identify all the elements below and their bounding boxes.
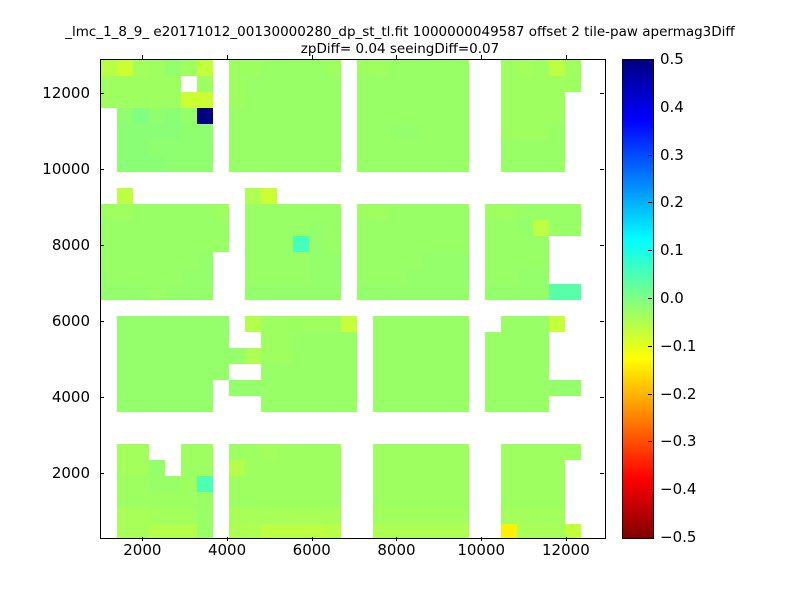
colorbar-tick-label: −0.1 (660, 337, 696, 355)
y-tick-label: 10000 (0, 160, 90, 178)
colorbar-tick-label: 0.1 (660, 241, 684, 259)
colorbar-gradient (623, 60, 653, 538)
y-tick (600, 245, 604, 246)
colorbar-tick-label: −0.3 (660, 432, 696, 450)
y-tick (600, 397, 604, 398)
x-tick-label: 6000 (293, 541, 331, 559)
colorbar-tick (648, 394, 652, 395)
y-tick (100, 245, 104, 246)
colorbar-tick (648, 298, 652, 299)
colorbar (622, 59, 654, 539)
x-tick (142, 55, 143, 59)
colorbar-tick (648, 346, 652, 347)
y-tick (600, 93, 604, 94)
y-tick-label: 8000 (0, 236, 90, 254)
plot-area (100, 59, 606, 539)
colorbar-tick-label: 0.3 (660, 146, 684, 164)
x-tick-label: 8000 (377, 541, 415, 559)
y-tick (600, 473, 604, 474)
y-tick-label: 4000 (0, 388, 90, 406)
figure-title: _lmc_1_8_9_ e20171012_00130000280_dp_st_… (0, 24, 800, 40)
colorbar-tick-label: 0.4 (660, 98, 684, 116)
x-tick (227, 55, 228, 59)
y-tick (100, 169, 104, 170)
x-tick-label: 12000 (542, 541, 590, 559)
x-tick-label: 2000 (123, 541, 161, 559)
colorbar-tick-label: 0.0 (660, 289, 684, 307)
x-tick-label: 4000 (208, 541, 246, 559)
y-tick-label: 6000 (0, 312, 90, 330)
y-tick (600, 321, 604, 322)
y-tick (100, 397, 104, 398)
colorbar-tick (648, 59, 652, 60)
x-tick (396, 55, 397, 59)
colorbar-tick (648, 202, 652, 203)
x-tick (312, 55, 313, 59)
y-tick (100, 473, 104, 474)
colorbar-tick (648, 250, 652, 251)
colorbar-tick-label: −0.5 (660, 528, 696, 546)
figure-canvas: _lmc_1_8_9_ e20171012_00130000280_dp_st_… (0, 0, 800, 600)
colorbar-tick-label: 0.2 (660, 193, 684, 211)
y-tick (100, 321, 104, 322)
y-tick (100, 93, 104, 94)
colorbar-tick (648, 537, 652, 538)
colorbar-tick (648, 489, 652, 490)
heatmap-image (101, 60, 605, 538)
x-tick (481, 55, 482, 59)
y-tick (600, 169, 604, 170)
x-tick-label: 10000 (457, 541, 505, 559)
colorbar-tick (648, 155, 652, 156)
colorbar-tick-label: −0.2 (660, 385, 696, 403)
y-tick-label: 12000 (0, 84, 90, 102)
colorbar-tick-label: −0.4 (660, 480, 696, 498)
colorbar-tick (648, 441, 652, 442)
heatmap-pixels (101, 60, 605, 538)
colorbar-tick-label: 0.5 (660, 50, 684, 68)
x-tick (566, 55, 567, 59)
colorbar-tick (648, 107, 652, 108)
y-tick-label: 2000 (0, 464, 90, 482)
